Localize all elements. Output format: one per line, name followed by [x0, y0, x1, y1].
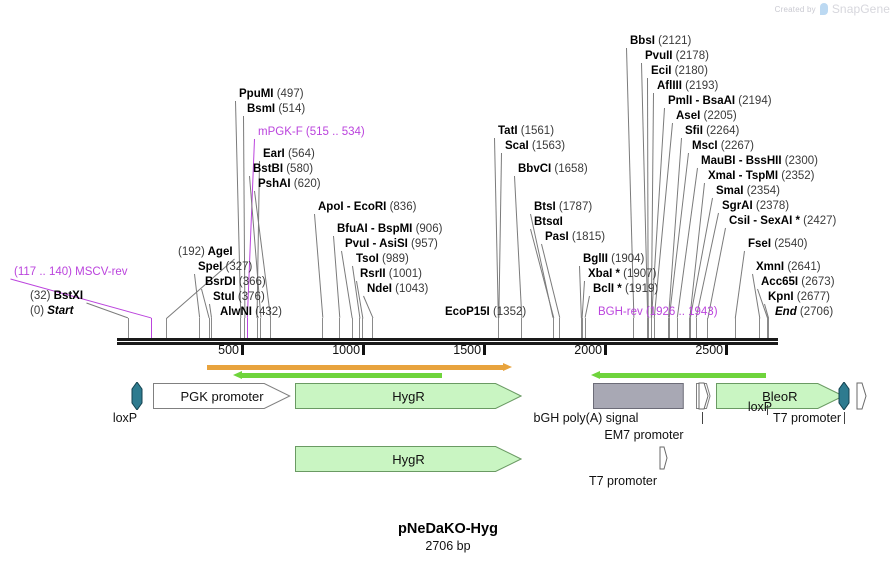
enzyme-position: (1561) — [518, 125, 554, 137]
restriction-site-tick — [209, 318, 210, 338]
enzyme-name: PvuI - AsiSI — [345, 238, 408, 250]
enzyme-name: ScaI — [505, 140, 529, 152]
enzyme-label: EcoP15I (1352) — [445, 306, 526, 318]
axis-tick — [483, 345, 486, 355]
enzyme-name: RsrII — [360, 268, 386, 280]
enzyme-position: (2677) — [794, 291, 830, 303]
restriction-site-tick — [372, 318, 373, 338]
enzyme-position: (1658) — [551, 163, 587, 175]
restriction-site-tick — [553, 318, 554, 338]
enzyme-label: TatI (1561) — [498, 125, 554, 137]
enzyme-name: CsiI - SexAI * — [729, 215, 800, 227]
restriction-site-tick — [322, 318, 323, 338]
restriction-site-tick — [559, 318, 560, 338]
plasmid-name: pNeDaKO-Hyg — [0, 521, 896, 537]
enzyme-label: XbaI * (1907) — [588, 268, 656, 280]
leader-line — [707, 228, 726, 318]
restriction-site-tick — [651, 318, 652, 338]
axis-tick — [725, 345, 728, 355]
enzyme-label: Acc65I (2673) — [761, 276, 835, 288]
enzyme-label: (117 .. 140) MSCV-rev — [14, 266, 128, 278]
enzyme-position: (2205) — [700, 110, 736, 122]
enzyme-label: BclI * (1919) — [593, 283, 658, 295]
enzyme-position: (2427) — [800, 215, 836, 227]
green-range-arrow-right — [591, 371, 766, 380]
feature-label: PGK promoter — [153, 383, 308, 409]
enzyme-position: (2193) — [682, 80, 718, 92]
enzyme-position: (1352) — [490, 306, 526, 318]
restriction-site-tick — [759, 318, 760, 338]
feature-bgh-poly-a-signal[interactable] — [593, 383, 684, 409]
enzyme-label: SpeI (327) — [198, 261, 252, 273]
leader-line — [341, 251, 353, 318]
restriction-site-tick — [151, 318, 152, 338]
enzyme-position: (366) — [236, 276, 266, 288]
feature-hygr[interactable]: HygR — [295, 446, 522, 472]
enzyme-position: (2352) — [778, 170, 814, 182]
enzyme-name: BfuAI - BspMI — [337, 223, 412, 235]
snapgene-watermark: Created by SnapGene — [775, 2, 890, 16]
enzyme-name: PasI — [545, 231, 569, 243]
restriction-site-tick — [352, 318, 353, 338]
enzyme-label: AseI (2205) — [676, 110, 737, 122]
enzyme-label: SmaI (2354) — [716, 185, 780, 197]
enzyme-position: (957) — [408, 238, 438, 250]
label-bgh-polya: bGH poly(A) signal — [534, 411, 639, 425]
enzyme-label: AflIII (2193) — [657, 80, 718, 92]
leader-line — [514, 176, 522, 318]
enzyme-name: BstBI — [253, 163, 283, 175]
enzyme-label: AlwNI (432) — [220, 306, 282, 318]
enzyme-position: (2264) — [703, 125, 739, 137]
axis-tick-label: 1500 — [453, 343, 481, 357]
enzyme-position: (2194) — [735, 95, 771, 107]
enzyme-position: (580) — [283, 163, 313, 175]
enzyme-name: AseI — [676, 110, 700, 122]
feature-shape — [593, 383, 684, 409]
enzyme-label: ScaI (1563) — [505, 140, 565, 152]
enzyme-position: (2354) — [744, 185, 780, 197]
enzyme-label: PvuII (2178) — [645, 50, 709, 62]
label-t7-promoter-bottom: T7 promoter — [589, 474, 657, 488]
enzyme-position: (1043) — [392, 283, 428, 295]
connector-em7 — [702, 412, 703, 424]
feature-pgk-promoter[interactable]: PGK promoter — [153, 383, 290, 409]
restriction-site-tick — [707, 318, 708, 338]
enzyme-label: BsrDI (366) — [205, 276, 266, 288]
feature-label: HygR — [295, 446, 540, 472]
enzyme-label: RsrII (1001) — [360, 268, 422, 280]
enzyme-label: XmnI (2641) — [756, 261, 821, 273]
enzyme-position: (2378) — [753, 200, 789, 212]
enzyme-label: MauBI - BssHII (2300) — [701, 155, 818, 167]
enzyme-label: mPGK-F (515 .. 534) — [258, 126, 365, 138]
enzyme-label: BtsI (1787) — [534, 201, 592, 213]
green-range-arrow-left — [233, 371, 442, 380]
axis-tick-label: 2500 — [695, 343, 723, 357]
enzyme-name: AflIII — [657, 80, 682, 92]
restriction-site-tick — [585, 318, 586, 338]
enzyme-name: EarI — [263, 148, 285, 160]
axis-tick — [362, 345, 365, 355]
primer-name: (117 .. 140) MSCV-rev — [14, 266, 128, 278]
enzyme-label: EarI (564) — [263, 148, 315, 160]
enzyme-position: (906) — [412, 223, 442, 235]
enzyme-position: (1904) — [608, 253, 644, 265]
leader-line — [209, 304, 212, 318]
restriction-site-tick — [257, 318, 258, 338]
feature-label: HygR — [295, 383, 540, 409]
enzyme-name: EcoP15I — [445, 306, 490, 318]
enzyme-label: BbvCI (1658) — [518, 163, 588, 175]
enzyme-label: NdeI (1043) — [367, 283, 428, 295]
enzyme-name: XbaI * — [588, 268, 620, 280]
enzyme-name: BglII — [583, 253, 608, 265]
restriction-site-tick — [633, 318, 634, 338]
primer-name: BGH-rev (1926 .. 1943) — [598, 306, 718, 318]
enzyme-name: KpnI — [768, 291, 794, 303]
restriction-site-tick — [768, 318, 769, 338]
enzyme-position: (564) — [285, 148, 315, 160]
enzyme-position: (192) — [178, 246, 205, 258]
restriction-site-tick — [696, 318, 697, 338]
enzyme-name: TatI — [498, 125, 518, 137]
enzyme-label: BbsI (2121) — [630, 35, 691, 47]
arrow-head — [503, 363, 512, 371]
leader-line — [333, 236, 340, 318]
enzyme-label: BtsαI — [534, 216, 563, 228]
feature-t7-promoter-right[interactable] — [853, 382, 867, 410]
enzyme-name: BsrDI — [205, 276, 236, 288]
loxp-marker-left[interactable] — [131, 382, 143, 410]
enzyme-name: SmaI — [716, 185, 744, 197]
watermark-brand-text: SnapGene — [832, 2, 890, 16]
enzyme-position: (989) — [379, 253, 409, 265]
plasmid-size: 2706 bp — [0, 539, 896, 553]
leader-line — [735, 251, 745, 318]
enzyme-name: XmaI - TspMI — [708, 170, 778, 182]
enzyme-position: (2178) — [672, 50, 708, 62]
enzyme-label: ApoI - EcoRI (836) — [318, 201, 416, 213]
enzyme-position: (376) — [235, 291, 265, 303]
enzyme-name: AlwNI — [220, 306, 252, 318]
enzyme-name: End — [775, 306, 797, 318]
restriction-site-tick — [260, 318, 261, 338]
enzyme-position: (514) — [275, 103, 305, 115]
arrow-head — [591, 371, 600, 379]
enzyme-label: BsmI (514) — [247, 103, 305, 115]
enzyme-name: MauBI - BssHII — [701, 155, 782, 167]
enzyme-label: PpuMI (497) — [239, 88, 304, 100]
plasmid-title-block: pNeDaKO-Hyg 2706 bp — [0, 521, 896, 553]
ruler-line-bottom — [117, 342, 778, 345]
enzyme-position: (1563) — [529, 140, 565, 152]
enzyme-label: End (2706) — [775, 306, 833, 318]
enzyme-position: (1919) — [622, 283, 658, 295]
enzyme-name: SgrAI — [722, 200, 753, 212]
label-loxp-left: loxP — [113, 411, 137, 425]
loxp-marker-right[interactable] — [838, 382, 850, 410]
enzyme-label: PasI (1815) — [545, 231, 605, 243]
connector-t7-right — [767, 405, 768, 415]
enzyme-label: SgrAI (2378) — [722, 200, 789, 212]
enzyme-name: NdeI — [367, 283, 392, 295]
enzyme-label: BGH-rev (1926 .. 1943) — [598, 306, 718, 318]
enzyme-position: (2673) — [798, 276, 834, 288]
restriction-site-tick — [166, 318, 167, 338]
enzyme-position: (2300) — [782, 155, 818, 167]
enzyme-label: XmaI - TspMI (2352) — [708, 170, 815, 182]
feature-hygr[interactable]: HygR — [295, 383, 522, 409]
enzyme-label: (0) Start — [30, 305, 73, 317]
enzyme-label: FseI (2540) — [748, 238, 807, 250]
enzyme-position: (497) — [274, 88, 304, 100]
enzyme-name: BbsI — [630, 35, 655, 47]
restriction-site-tick — [362, 318, 363, 338]
arrow-head — [233, 371, 242, 379]
restriction-site-tick — [339, 318, 340, 338]
enzyme-name: BtsαI — [534, 216, 563, 228]
label-em7-promoter: EM7 promoter — [604, 428, 683, 442]
enzyme-position: (2641) — [784, 261, 820, 273]
leader-line — [498, 153, 502, 318]
enzyme-label: BglII (1904) — [583, 253, 644, 265]
enzyme-name: TsoI — [356, 253, 379, 265]
restriction-site-tick — [359, 318, 360, 338]
enzyme-position: (2540) — [771, 238, 807, 250]
connector-loxp-right — [844, 412, 845, 424]
feature-bleor[interactable]: BleoR — [716, 383, 844, 409]
axis-tick — [241, 345, 244, 355]
enzyme-position: (327) — [222, 261, 252, 273]
restriction-site-tick — [270, 318, 271, 338]
enzyme-name: Acc65I — [761, 276, 798, 288]
enzyme-name: BbvCI — [518, 163, 551, 175]
enzyme-label: (192) AgeI — [178, 246, 233, 258]
enzyme-label: PvuI - AsiSI (957) — [345, 238, 438, 250]
axis-tick — [604, 345, 607, 355]
restriction-site-tick — [677, 318, 678, 338]
arrow-shaft — [599, 373, 766, 378]
enzyme-name: PshAI — [258, 178, 291, 190]
enzyme-position: (2121) — [655, 35, 691, 47]
enzyme-name: SpeI — [198, 261, 222, 273]
ruler-line-top — [117, 338, 778, 341]
restriction-site-tick — [498, 318, 499, 338]
feature-em7-promoter-shape[interactable] — [695, 382, 709, 410]
primer-name: mPGK-F (515 .. 534) — [258, 126, 365, 138]
enzyme-label: PmlI - BsaAI (2194) — [668, 95, 772, 107]
restriction-site-tick — [128, 318, 129, 338]
restriction-site-tick — [735, 318, 736, 338]
enzyme-position: (1001) — [386, 268, 422, 280]
restriction-site-tick — [690, 318, 691, 338]
enzyme-position: (1787) — [556, 201, 592, 213]
restriction-site-tick — [582, 318, 583, 338]
enzyme-label: KpnI (2677) — [768, 291, 830, 303]
axis-tick-label: 2000 — [574, 343, 602, 357]
enzyme-label: TsoI (989) — [356, 253, 409, 265]
enzyme-label: (32) BstXI — [30, 290, 83, 302]
enzyme-position: (2267) — [718, 140, 754, 152]
enzyme-name: PpuMI — [239, 88, 274, 100]
enzyme-name: AgeI — [205, 246, 233, 258]
enzyme-label: SfiI (2264) — [685, 125, 739, 137]
enzyme-name: SfiI — [685, 125, 703, 137]
axis-tick-label: 1000 — [332, 343, 360, 357]
enzyme-label: PshAI (620) — [258, 178, 321, 190]
enzyme-name: EciI — [651, 65, 671, 77]
restriction-site-tick — [669, 318, 670, 338]
leader-line — [647, 78, 649, 318]
enzyme-position: (32) — [30, 290, 50, 302]
label-loxp-right: loxP — [748, 400, 772, 414]
enzyme-name: BclI * — [593, 283, 622, 295]
enzyme-position: (2180) — [671, 65, 707, 77]
leader-line — [585, 296, 590, 318]
plasmid-map-canvas: Created by SnapGene (117 .. 140) MSCV-re… — [0, 0, 896, 562]
enzyme-position: (836) — [386, 201, 416, 213]
enzyme-position: (0) — [30, 305, 44, 317]
enzyme-label: EciI (2180) — [651, 65, 708, 77]
enzyme-name: BsmI — [247, 103, 275, 115]
enzyme-position: (1815) — [569, 231, 605, 243]
enzyme-label: MscI (2267) — [692, 140, 754, 152]
leader-line — [194, 274, 200, 318]
restriction-site-tick — [244, 318, 245, 338]
snapgene-logo-icon — [820, 3, 828, 15]
enzyme-name: StuI — [213, 291, 235, 303]
enzyme-label: CsiI - SexAI * (2427) — [729, 215, 836, 227]
enzyme-position: (2706) — [797, 306, 833, 318]
enzyme-name: FseI — [748, 238, 771, 250]
enzyme-name: PvuII — [645, 50, 672, 62]
enzyme-position: (432) — [252, 306, 282, 318]
arrow-shaft — [241, 373, 442, 378]
watermark-created-text: Created by — [775, 5, 816, 14]
enzyme-name: MscI — [692, 140, 718, 152]
enzyme-label: BfuAI - BspMI (906) — [337, 223, 442, 235]
axis-tick-label: 500 — [218, 343, 239, 357]
enzyme-name: ApoI - EcoRI — [318, 201, 386, 213]
enzyme-name: Start — [44, 305, 73, 317]
enzyme-name: XmnI — [756, 261, 784, 273]
enzyme-name: BstXI — [50, 290, 83, 302]
leader-line — [363, 296, 373, 318]
enzyme-name: BtsI — [534, 201, 556, 213]
restriction-site-tick — [240, 318, 241, 338]
enzyme-label: StuI (376) — [213, 291, 265, 303]
enzyme-label: BstBI (580) — [253, 163, 313, 175]
restriction-site-tick — [211, 318, 212, 338]
restriction-site-tick — [247, 318, 248, 338]
enzyme-position: (1907) — [620, 268, 656, 280]
feature-t7-promoter-bottom[interactable] — [657, 446, 669, 470]
restriction-site-tick — [648, 318, 649, 338]
restriction-site-tick — [521, 318, 522, 338]
restriction-site-tick — [199, 318, 200, 338]
leader-line — [314, 214, 323, 318]
label-t7-promoter-right: T7 promoter — [773, 411, 841, 425]
arrow-shaft — [207, 365, 504, 370]
restriction-site-tick — [654, 318, 655, 338]
enzyme-position: (620) — [291, 178, 321, 190]
enzyme-name: PmlI - BsaAI — [668, 95, 735, 107]
